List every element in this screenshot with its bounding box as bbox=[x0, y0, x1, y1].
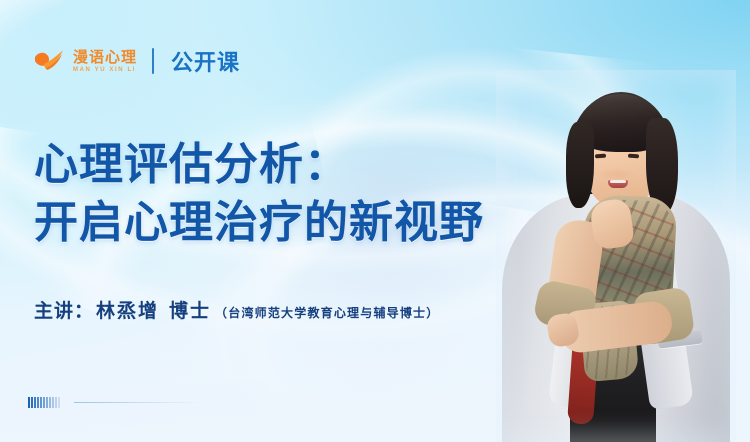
headline-line-1: 心理评估分析： bbox=[34, 140, 349, 189]
banner-headline: 心理评估分析： 开启心理治疗的新视野 bbox=[34, 136, 484, 252]
decoration-bar bbox=[52, 397, 54, 408]
brand-wordmark: 漫语心理 MAN YU XIN LI bbox=[73, 50, 137, 73]
decoration-bar bbox=[49, 397, 51, 408]
bottom-decoration bbox=[28, 397, 202, 408]
decoration-rule bbox=[74, 402, 202, 403]
decoration-bar bbox=[31, 397, 33, 408]
speaker-name: 林烝增 bbox=[96, 296, 159, 323]
orange-swoosh-logo-icon bbox=[34, 48, 64, 74]
photo-edge-blend bbox=[496, 70, 736, 442]
speaker-label: 主讲： bbox=[34, 296, 94, 323]
decoration-bar bbox=[28, 397, 30, 408]
brand-name-pinyin: MAN YU XIN LI bbox=[73, 67, 137, 73]
decoration-bars bbox=[28, 397, 60, 408]
brand-logo-row[interactable]: 漫语心理 MAN YU XIN LI 公开课 bbox=[34, 45, 240, 77]
decoration-bar bbox=[46, 397, 48, 408]
decoration-bar bbox=[34, 397, 36, 408]
course-banner: 漫语心理 MAN YU XIN LI 公开课 心理评估分析： 开启心理治疗的新视… bbox=[0, 0, 750, 442]
decoration-bar bbox=[58, 397, 60, 408]
brand-divider bbox=[152, 48, 154, 74]
presenter-photo bbox=[496, 70, 736, 442]
decoration-bar bbox=[43, 397, 45, 408]
course-category-label: 公开课 bbox=[171, 45, 240, 77]
decoration-bar bbox=[40, 397, 42, 408]
speaker-line: 主讲： 林烝增 博士 （台湾师范大学教育心理与辅导博士） bbox=[34, 296, 439, 323]
decoration-bar bbox=[37, 397, 39, 408]
headline-line-2: 开启心理治疗的新视野 bbox=[34, 194, 484, 252]
speaker-degree: 博士 bbox=[169, 296, 211, 323]
brand-name-cn: 漫语心理 bbox=[73, 50, 137, 65]
decoration-bar bbox=[55, 397, 57, 408]
speaker-affiliation: （台湾师范大学教育心理与辅导博士） bbox=[215, 304, 439, 321]
